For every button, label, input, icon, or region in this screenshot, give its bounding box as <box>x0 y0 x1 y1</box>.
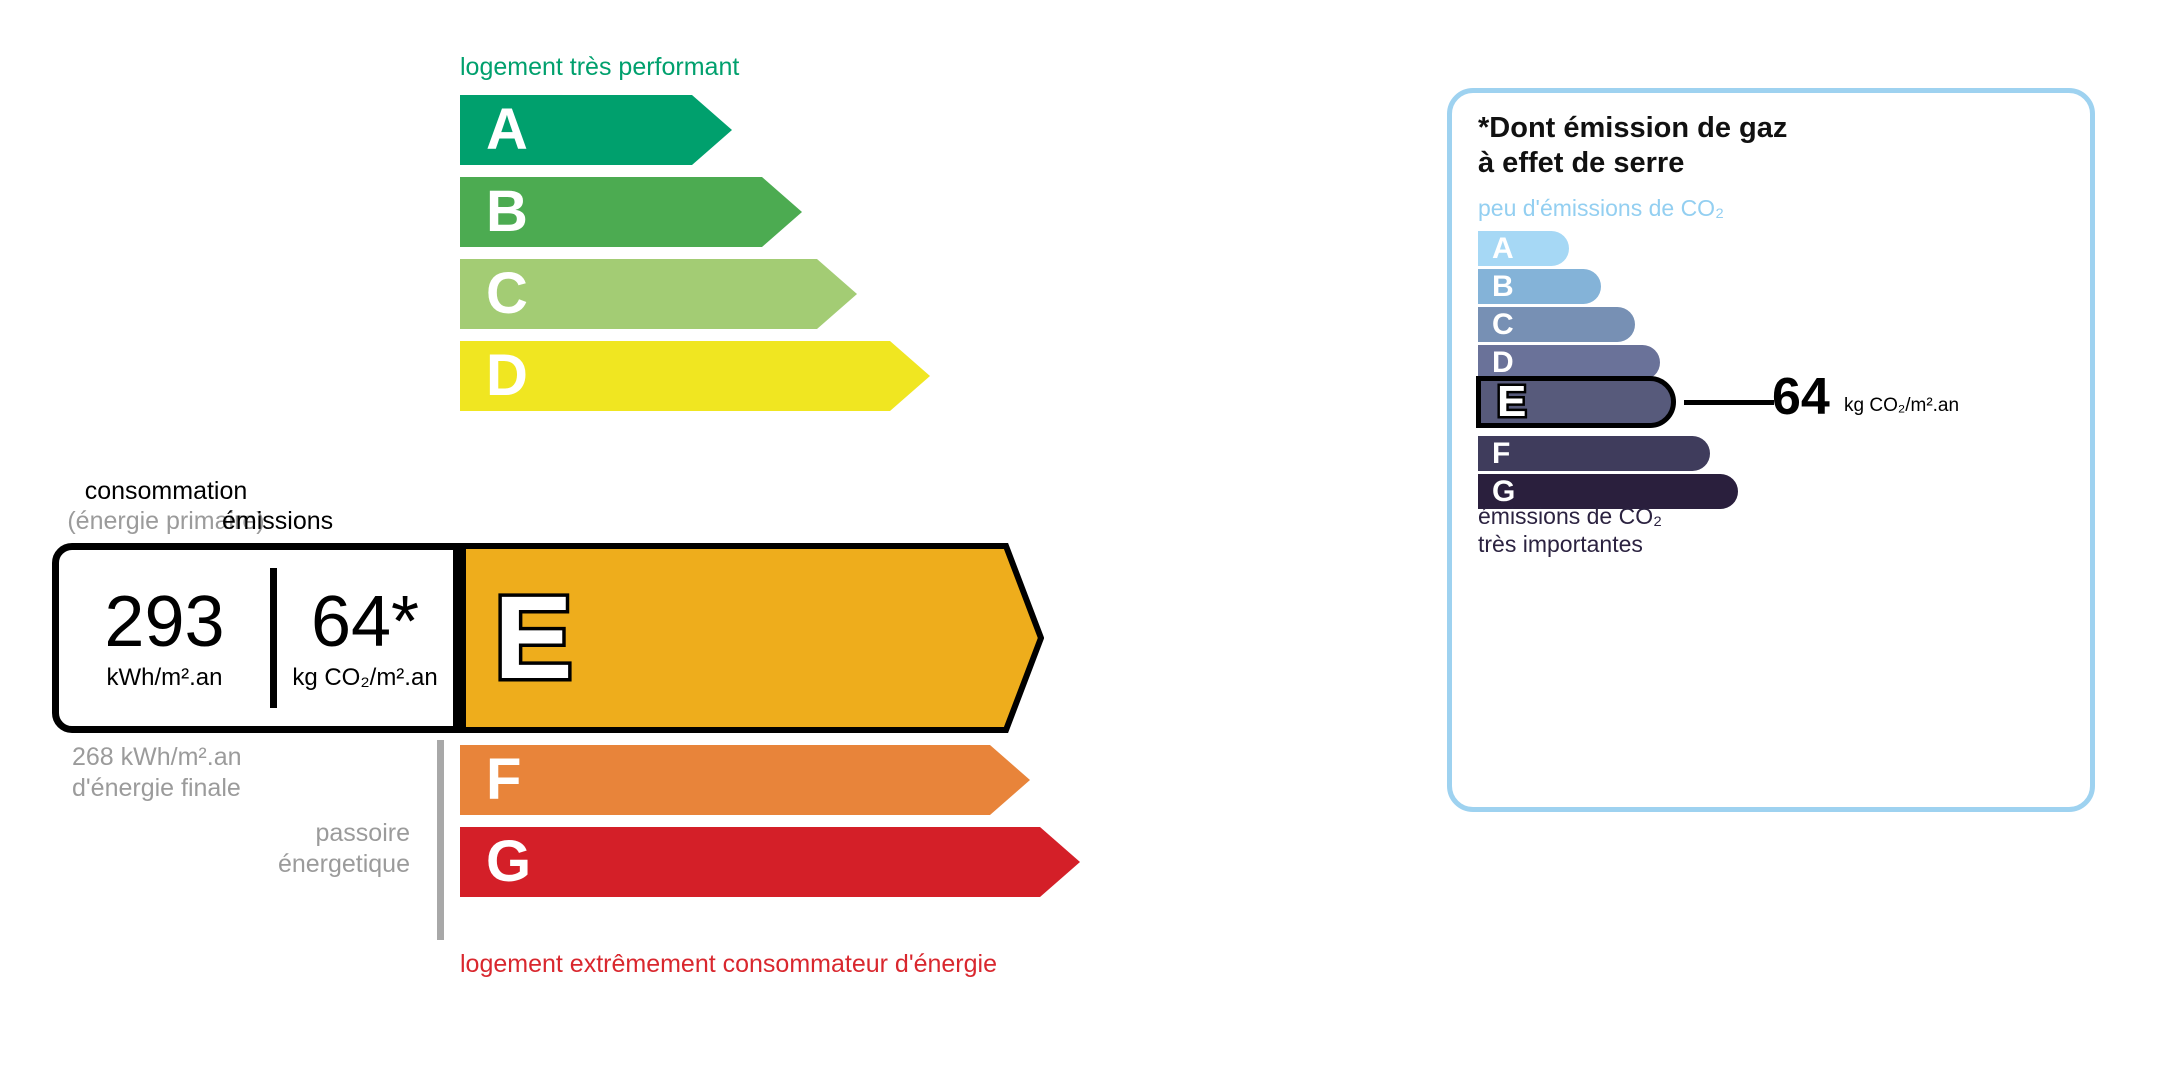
co2-class-e-letter: E <box>1497 380 1526 424</box>
consumption-header-line1: consommation <box>66 478 266 504</box>
co2-panel-title: *Dont émission de gaz à effet de serre <box>1478 111 1787 182</box>
energy-class-e-body: E <box>460 543 958 733</box>
co2-class-c-letter: C <box>1492 310 1514 340</box>
value-box-divider <box>270 568 277 708</box>
arrow-tip-icon <box>990 745 1030 815</box>
arrow-tip-icon <box>958 543 1044 733</box>
arrow-tip-icon <box>762 177 802 247</box>
energy-class-d-body: D <box>460 341 890 411</box>
emission-value: 64* <box>311 586 419 658</box>
final-energy-note: 268 kWh/m².an d'énergie finale <box>72 742 242 803</box>
co2-caption-bottom-line1: émissions de CO₂ <box>1478 503 1662 531</box>
energy-class-d-letter: D <box>486 347 528 405</box>
co2-panel-title-line2: à effet de serre <box>1478 146 1787 181</box>
energy-class-g-body: G <box>460 827 1040 897</box>
co2-class-g-letter: G <box>1492 477 1515 507</box>
emission-value-cell: 64* kg CO₂/m².an <box>277 550 453 726</box>
emissions-header: émissions <box>222 508 333 534</box>
co2-class-bar-c: C <box>1478 307 1635 342</box>
energy-class-f-body: F <box>460 745 990 815</box>
energy-class-bar-d: D <box>460 341 890 411</box>
dpe-value-box: 293 kWh/m².an 64* kg CO₂/m².an <box>52 543 460 733</box>
energy-class-e-letter: E <box>494 579 573 697</box>
energy-class-bar-f: F <box>460 745 990 815</box>
final-energy-note-line2: d'énergie finale <box>72 773 242 804</box>
co2-panel-title-line1: *Dont émission de gaz <box>1478 111 1787 146</box>
passoire-note: passoire énergetique <box>140 818 410 879</box>
co2-caption-bottom-line2: très importantes <box>1478 531 1662 559</box>
energy-performance-scale: logement très performant A B C D E <box>0 0 1300 1079</box>
scale-caption-top: logement très performant <box>460 55 739 80</box>
co2-class-b-letter: B <box>1492 272 1514 302</box>
co2-class-f-letter: F <box>1492 439 1510 469</box>
arrow-tip-icon <box>1040 827 1080 897</box>
energy-class-g-letter: G <box>486 833 531 891</box>
co2-callout-leader-line <box>1684 400 1774 405</box>
arrow-tip-icon <box>817 259 857 329</box>
energy-class-bar-b: B <box>460 177 762 247</box>
co2-callout-value: 64 <box>1772 371 1830 423</box>
co2-class-bar-a: A <box>1478 231 1569 266</box>
co2-class-bar-e-selected: E <box>1476 376 1676 428</box>
passoire-energetique-marker <box>437 740 444 940</box>
energy-class-b-letter: B <box>486 183 528 241</box>
arrow-tip-icon <box>692 95 732 165</box>
energy-class-bar-a: A <box>460 95 692 165</box>
co2-caption-bottom: émissions de CO₂ très importantes <box>1478 503 1662 558</box>
final-energy-note-line1: 268 kWh/m².an <box>72 742 242 773</box>
emission-unit: kg CO₂/m².an <box>292 666 437 690</box>
energy-class-f-letter: F <box>486 751 521 809</box>
energy-class-bar-e-selected: E <box>460 543 958 733</box>
co2-class-bar-f: F <box>1478 436 1710 471</box>
co2-class-d-letter: D <box>1492 348 1514 378</box>
co2-class-bar-d: D <box>1478 345 1660 380</box>
energy-class-bar-g: G <box>460 827 1040 897</box>
consumption-value-cell: 293 kWh/m².an <box>59 550 270 726</box>
energy-class-a-letter: A <box>486 101 528 159</box>
energy-class-a-body: A <box>460 95 692 165</box>
energy-class-c-body: C <box>460 259 817 329</box>
passoire-note-line2: énergetique <box>140 849 410 880</box>
energy-class-b-body: B <box>460 177 762 247</box>
energy-class-bar-c: C <box>460 259 817 329</box>
consumption-unit: kWh/m².an <box>106 666 222 690</box>
passoire-note-line1: passoire <box>140 818 410 849</box>
co2-class-a-letter: A <box>1492 234 1514 264</box>
consumption-value: 293 <box>104 586 224 658</box>
co2-caption-top: peu d'émissions de CO₂ <box>1478 197 1724 220</box>
arrow-tip-icon <box>890 341 930 411</box>
co2-callout-unit: kg CO₂/m².an <box>1844 396 1959 415</box>
scale-caption-bottom: logement extrêmement consommateur d'éner… <box>460 952 997 977</box>
co2-emissions-panel: *Dont émission de gaz à effet de serre p… <box>1447 88 2095 812</box>
co2-class-bar-b: B <box>1478 269 1601 304</box>
energy-class-c-letter: C <box>486 265 528 323</box>
